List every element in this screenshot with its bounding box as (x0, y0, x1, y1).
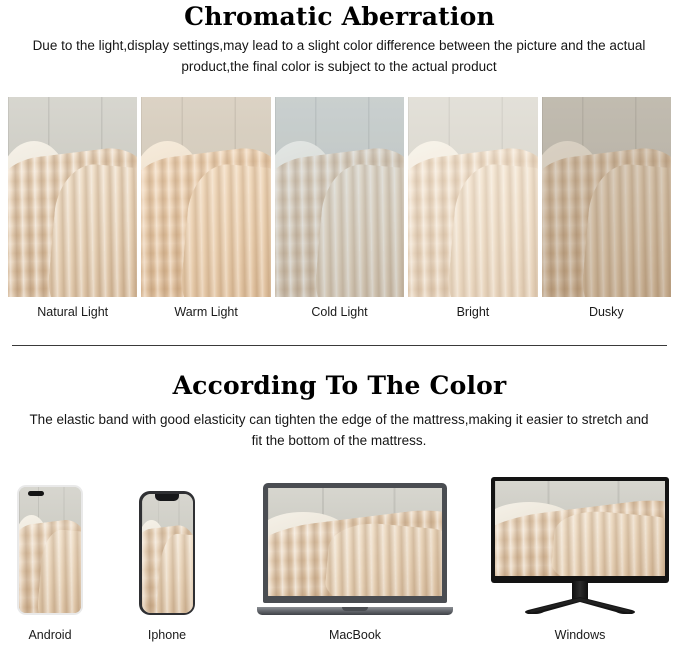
device-mockup-windows-monitor (491, 477, 669, 615)
product-photo-android (19, 487, 81, 613)
page-title-according-to-the-color: According To The Color (0, 371, 679, 400)
lighting-label-natural-light: Natural Light (8, 305, 137, 319)
product-photo-bright (408, 97, 537, 297)
macbook-base-notch (342, 607, 368, 611)
lighting-label-bright: Bright (408, 305, 537, 319)
product-photo-natural-light (8, 97, 137, 297)
lighting-label-cold-light: Cold Light (275, 305, 404, 319)
product-photo-macbook (268, 488, 442, 596)
lighting-comparison-row (8, 97, 671, 297)
notch-icon (155, 494, 179, 501)
lighting-panel-bright (408, 97, 537, 297)
lighting-panel-natural-light (8, 97, 137, 297)
macbook-base (257, 607, 453, 615)
android-phone-screen (19, 487, 81, 613)
android-phone-body (17, 485, 83, 615)
monitor-stand-base (520, 597, 640, 615)
product-photo-warm-light (141, 97, 270, 297)
product-photo-iphone (142, 494, 193, 613)
section-divider (12, 345, 667, 346)
device-mockup-macbook (257, 483, 453, 615)
macbook-screen (268, 488, 442, 596)
lighting-panel-cold-light (275, 97, 404, 297)
chromatic-aberration-description: Due to the light,display settings,may le… (24, 36, 654, 78)
device-label-iphone: Iphone (137, 628, 197, 642)
device-mockup-android (17, 485, 83, 615)
product-photo-cold-light (275, 97, 404, 297)
device-mockup-row (0, 470, 679, 615)
iphone-screen (142, 494, 193, 613)
monitor-panel (491, 477, 669, 583)
lighting-panel-warm-light (141, 97, 270, 297)
according-to-the-color-description: The elastic band with good elasticity ca… (24, 410, 654, 452)
scene-throw-blanket-fold (324, 519, 442, 596)
iphone-body (139, 491, 195, 615)
lighting-label-row: Natural Light Warm Light Cold Light Brig… (8, 305, 671, 319)
lighting-label-dusky: Dusky (542, 305, 671, 319)
scene-throw-blanket-fold (550, 508, 665, 576)
device-mockup-iphone (139, 491, 195, 615)
lighting-label-warm-light: Warm Light (141, 305, 270, 319)
device-label-windows: Windows (491, 628, 669, 642)
page-title-chromatic-aberration: Chromatic Aberration (0, 2, 679, 31)
product-photo-dusky (542, 97, 671, 297)
monitor-screen (495, 481, 665, 576)
product-photo-windows (495, 481, 665, 576)
device-label-macbook: MacBook (257, 628, 453, 642)
device-label-android: Android (17, 628, 83, 642)
camera-cutout-icon (28, 491, 44, 496)
lighting-panel-dusky (542, 97, 671, 297)
macbook-lid (263, 483, 447, 603)
